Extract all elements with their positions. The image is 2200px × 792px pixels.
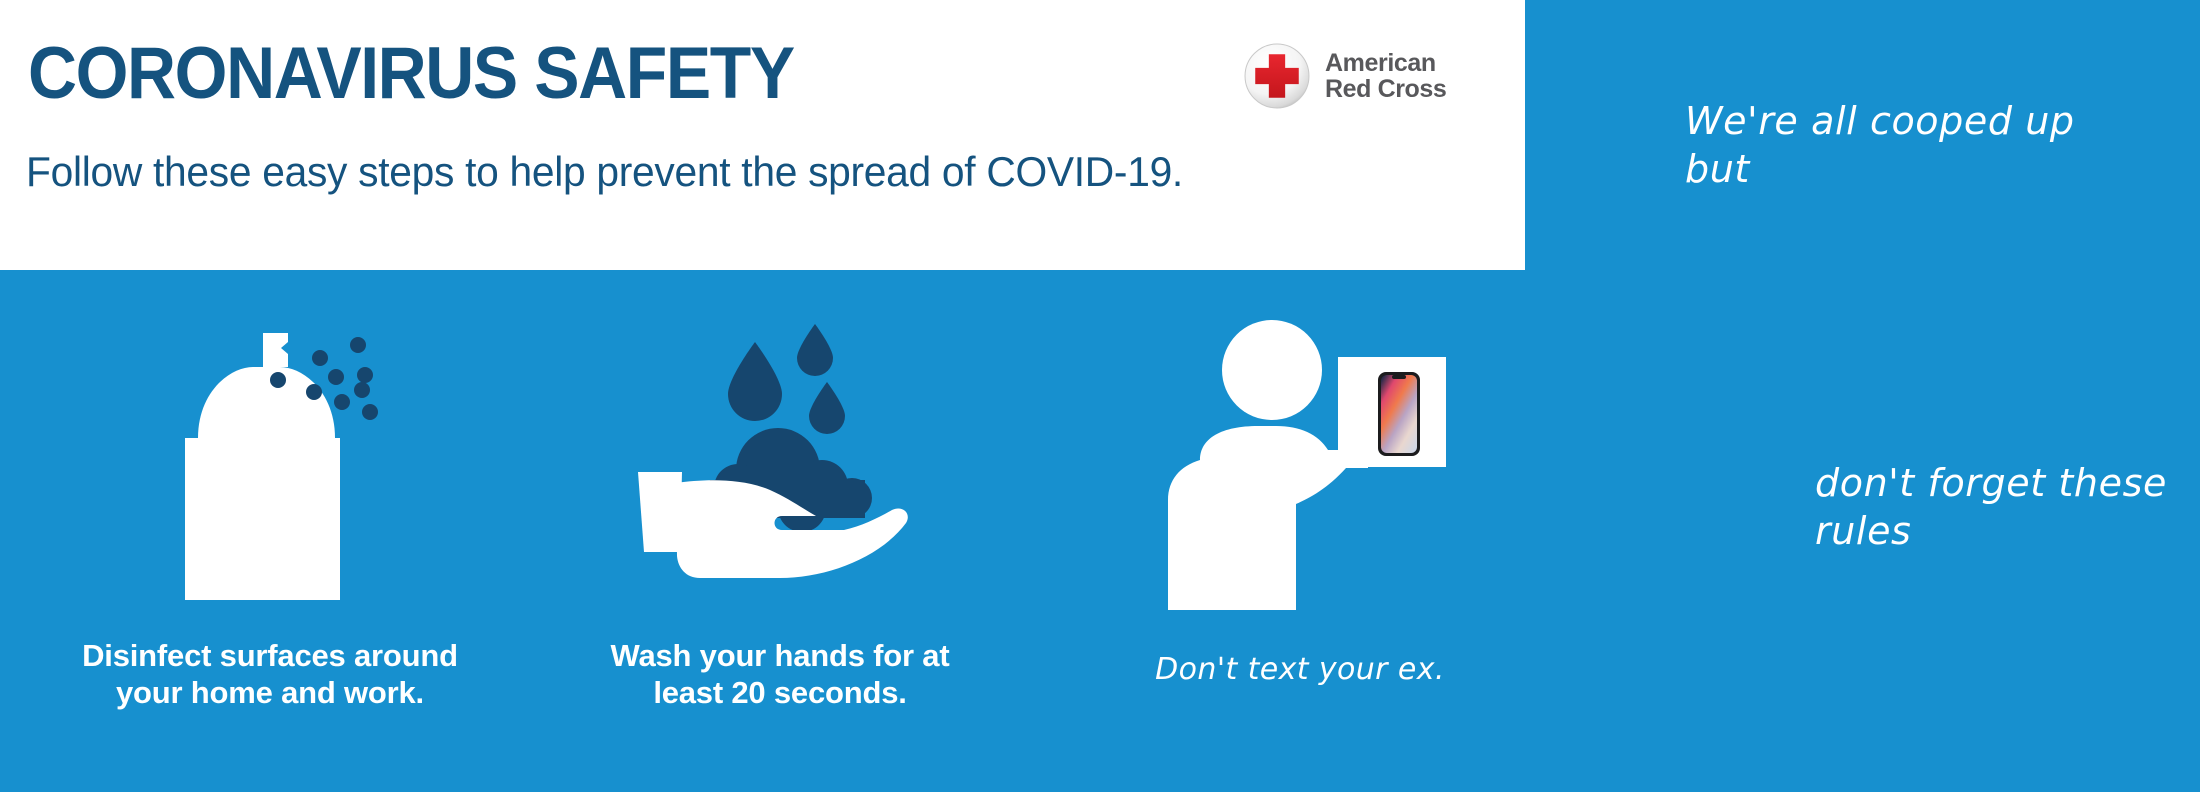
step-wash-hands-caption: Wash your hands for at least 20 seconds. (520, 638, 1040, 711)
header-panel: CORONAVIRUS SAFETY Follow these easy ste… (0, 0, 1525, 270)
iphone-x-image (1378, 372, 1420, 456)
red-cross-wordmark: American Red Cross (1325, 50, 1446, 103)
step-disinfect: Disinfect surfaces around your home and … (0, 320, 540, 711)
step-phone: Don't text your ex. (1060, 300, 1540, 687)
person-head (1222, 320, 1322, 420)
step-disinfect-caption: Disinfect surfaces around your home and … (0, 638, 540, 711)
coronavirus-safety-poster: CORONAVIRUS SAFETY Follow these easy ste… (0, 0, 2200, 792)
red-cross-wordmark-line2: Red Cross (1325, 76, 1446, 102)
washing-hands-icon (630, 320, 930, 610)
person-holding-phone-icon (1150, 300, 1450, 630)
person-body (1168, 426, 1368, 610)
step-wash-hands: Wash your hands for at least 20 seconds. (520, 320, 1040, 711)
spray-bottle-icon (130, 320, 410, 610)
water-droplet-group (728, 324, 845, 434)
page-subtitle: Follow these easy steps to help prevent … (26, 148, 1183, 196)
american-red-cross-logo: American Red Cross (1243, 42, 1446, 110)
page-title: CORONAVIRUS SAFETY (28, 32, 794, 115)
note-dont-forget: don't forget these rules (1815, 460, 2200, 555)
red-cross-wordmark-line1: American (1325, 50, 1446, 76)
red-cross-icon (1243, 42, 1311, 110)
note-cooped-up: We're all cooped up but (1685, 98, 2145, 193)
step-phone-caption: Don't text your ex. (1060, 652, 1540, 687)
